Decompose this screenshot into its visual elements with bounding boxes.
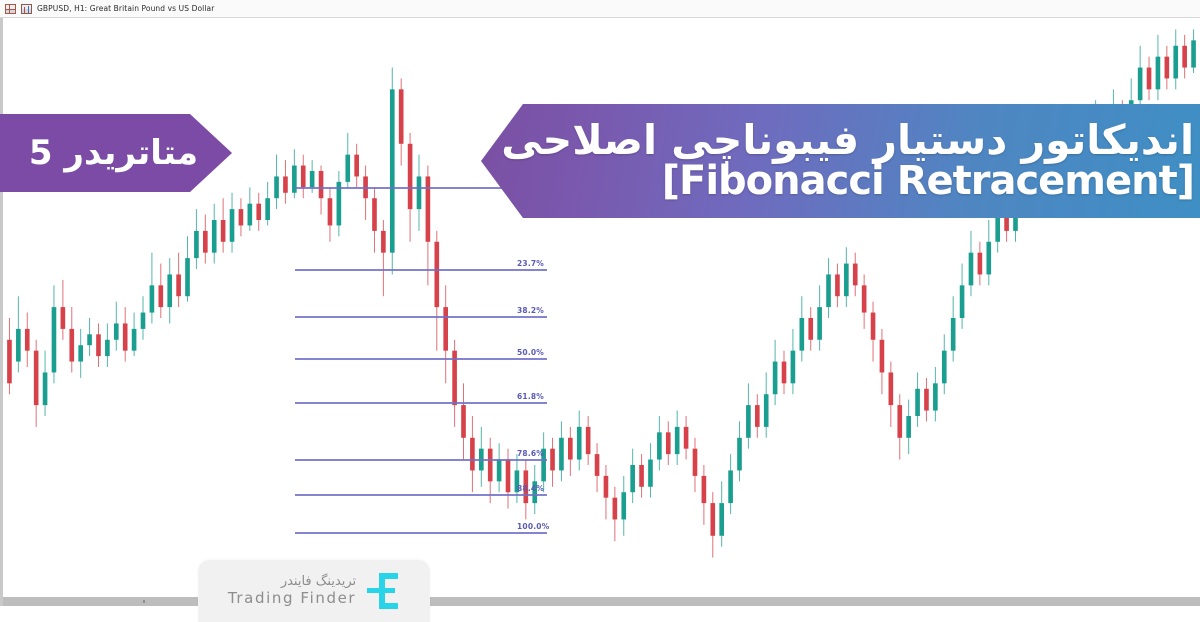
horizontal-scrollbar[interactable] [3, 597, 1200, 606]
brand-name-english: Trading Finder [228, 590, 356, 607]
mt5-toolbar: GBPUSD, H1: Great Britain Pound vs US Do… [0, 0, 1200, 18]
platform-badge: متاتریدر 5 [0, 114, 232, 192]
grid-icon[interactable] [5, 4, 16, 14]
chart-icon[interactable] [21, 4, 32, 14]
brand-name-persian: تریدینگ فایندر [281, 575, 356, 590]
screenshot-root: GBPUSD, H1: Great Britain Pound vs US Do… [0, 0, 1200, 622]
title-line-persian: اندیکاتور دستیار فیبوناچی اصلاحی [501, 121, 1194, 160]
platform-badge-label: متاتریدر 5 [29, 133, 198, 173]
brand-text: تریدینگ فایندر Trading Finder [228, 575, 356, 606]
brand-logo-card: تریدینگ فایندر Trading Finder [198, 560, 430, 622]
title-banner: اندیکاتور دستیار فیبوناچی اصلاحی [Fibona… [481, 104, 1200, 218]
trading-finder-logo-icon [366, 573, 400, 609]
symbol-title: GBPUSD, H1: Great Britain Pound vs US Do… [37, 4, 214, 13]
title-line-english: [Fibonacci Retracement] [662, 161, 1194, 201]
